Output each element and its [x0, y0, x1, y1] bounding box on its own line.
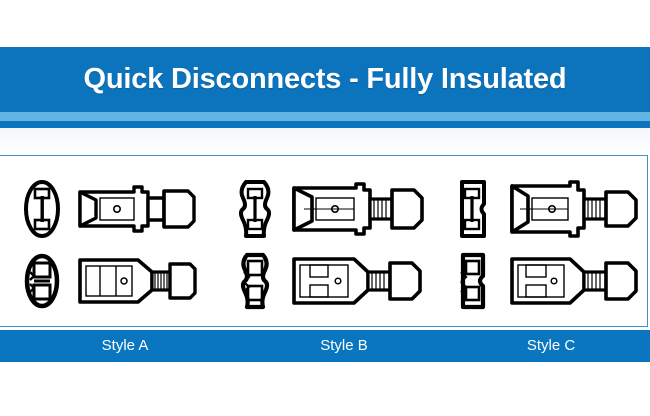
figure-row-a-female	[0, 246, 244, 320]
style-column-c	[438, 156, 648, 328]
style-column-b	[222, 156, 438, 328]
rectangular-notched-end-view-icon	[452, 178, 494, 245]
waisted-receptacle-end-view-icon	[234, 252, 276, 315]
page-header-banner: Quick Disconnects - Fully Insulated	[0, 47, 650, 112]
style-label-c: Style C	[452, 330, 650, 362]
waisted-end-view-icon	[234, 178, 276, 245]
female-receptacle-terminal-side-icon	[508, 252, 644, 315]
page-title: Quick Disconnects - Fully Insulated	[84, 65, 567, 94]
oval-receptacle-end-view-icon	[22, 252, 62, 315]
header-accent-stripe-light	[0, 112, 650, 121]
figure-row-b-male	[222, 174, 450, 248]
header-fade-gradient	[0, 128, 650, 155]
figure-row-c-female	[438, 246, 650, 320]
male-spade-terminal-side-icon	[290, 178, 430, 245]
style-label-b: Style B	[236, 330, 452, 362]
rectangular-receptacle-end-view-icon	[452, 252, 494, 315]
male-spade-terminal-side-icon	[508, 178, 644, 245]
male-spade-terminal-side-icon	[76, 178, 200, 245]
female-receptacle-terminal-side-icon	[76, 252, 200, 315]
female-receptacle-terminal-side-icon	[290, 252, 430, 315]
figure-row-a-male	[0, 174, 244, 248]
oval-end-view-icon	[22, 178, 62, 245]
connector-diagram-panel	[0, 155, 648, 327]
header-accent-stripe-dark	[0, 121, 650, 128]
footer-whitespace	[0, 362, 650, 416]
style-label-a: Style A	[14, 330, 236, 362]
style-column-a	[0, 156, 222, 328]
style-label-band: Style A Style B Style C	[0, 330, 650, 362]
figure-row-c-male	[438, 174, 650, 248]
figure-row-b-female	[222, 246, 450, 320]
